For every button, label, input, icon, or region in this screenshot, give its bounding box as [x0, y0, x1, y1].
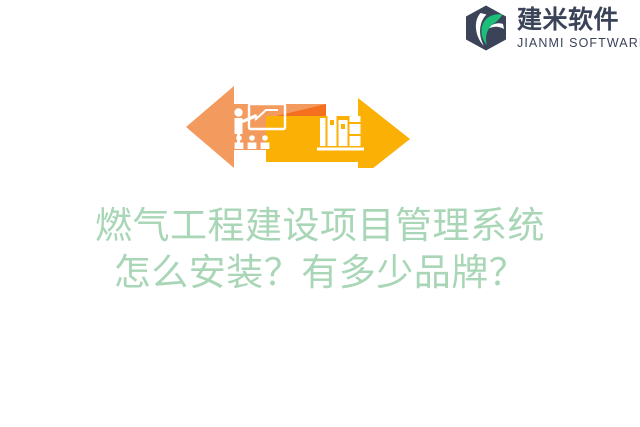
- brand-name-cn: 建米软件: [517, 8, 640, 33]
- page-title-line-1: 燃气工程建设项目管理系统: [0, 202, 640, 249]
- bookshelf-books-icon: [317, 116, 364, 151]
- page-title: 燃气工程建设项目管理系统 怎么安装？有多少品牌？: [0, 202, 640, 296]
- page-canvas: 建米软件 JIANMI SOFTWARE: [0, 0, 640, 427]
- hexagon-leaf-logo-icon: [462, 4, 510, 52]
- brand-name-en: JIANMI SOFTWARE: [517, 37, 640, 50]
- page-title-line-2: 怎么安装？有多少品牌？: [0, 249, 640, 296]
- two-way-arrows-illustration: [186, 86, 410, 168]
- brand-text-block: 建米软件 JIANMI SOFTWARE: [517, 7, 640, 50]
- brand-logo[interactable]: 建米软件 JIANMI SOFTWARE: [462, 0, 640, 56]
